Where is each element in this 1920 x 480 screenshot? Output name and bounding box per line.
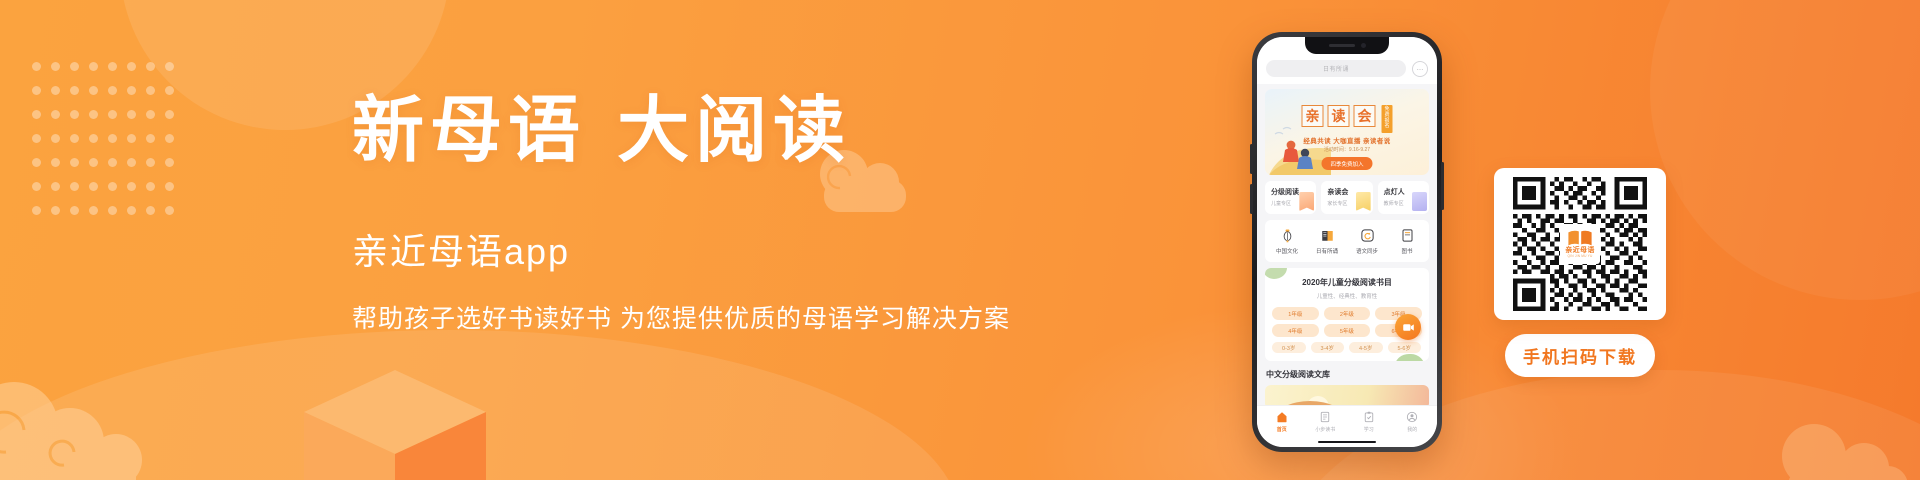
grade-chip[interactable]: 1年级 xyxy=(1272,307,1319,320)
qr-code-card[interactable]: 亲近母语 QIN JIN MU YU xyxy=(1494,168,1666,320)
tab-label: 小步读书 xyxy=(1315,426,1335,433)
banner-tagline: 帮助孩子选好书读好书 为您提供优质的母语学习解决方案 xyxy=(352,303,1032,336)
library-section-title: 中文分级阅读文库 xyxy=(1266,369,1428,380)
qr-download-block: 亲近母语 QIN JIN MU YU 手机扫码下载 xyxy=(1494,168,1666,377)
book-open-icon xyxy=(1320,228,1335,243)
banner-headline: 新母语 大阅读 xyxy=(352,88,1032,172)
list-icon xyxy=(1319,411,1331,423)
qr-logo-text-en: QIN JIN MU YU xyxy=(1567,255,1592,258)
play-video-button[interactable] xyxy=(1395,314,1421,340)
quick-link-label: 中国文化 xyxy=(1276,247,1298,255)
dot-grid-pattern xyxy=(32,62,184,230)
hero-char-1: 亲 xyxy=(1302,105,1324,127)
person-icon xyxy=(1412,192,1427,211)
age-chip[interactable]: 4-5岁 xyxy=(1349,342,1383,353)
user-icon xyxy=(1406,411,1418,423)
entry-card-graded-reading[interactable]: 分级阅读 儿童专区 xyxy=(1265,181,1316,214)
hero-char-2: 读 xyxy=(1328,105,1350,127)
tab-label: 学习 xyxy=(1364,426,1374,433)
age-chip[interactable]: 5-6岁 xyxy=(1388,342,1422,353)
message-icon[interactable]: … xyxy=(1412,61,1428,77)
booklist-title: 2020年儿童分级阅读书目 xyxy=(1272,277,1422,288)
home-icon xyxy=(1276,411,1288,423)
quick-link-label: 日有所诵 xyxy=(1316,247,1338,255)
hero-title: 亲 读 会 免费报名 xyxy=(1302,105,1393,133)
bookmark-icon xyxy=(1356,192,1371,211)
tab-label: 我的 xyxy=(1407,426,1417,433)
grade-chip[interactable]: 2年级 xyxy=(1324,307,1371,320)
tab-study[interactable]: 学习 xyxy=(1347,411,1391,433)
age-chip[interactable]: 0-3岁 xyxy=(1272,342,1306,353)
bottom-tab-bar: 首页 小步读书 学习 xyxy=(1257,405,1437,437)
leaf-decoration-icon xyxy=(1395,354,1425,361)
hero-ribbon-badge: 免费报名 xyxy=(1382,105,1393,133)
entry-card-teacher[interactable]: 点灯人 教师专区 xyxy=(1378,181,1429,214)
quick-link-row: 中国文化 日有所诵 xyxy=(1265,220,1429,262)
grade-chip[interactable]: 4年级 xyxy=(1272,324,1319,337)
quick-link-label: 语文同步 xyxy=(1356,247,1378,255)
qr-center-logo: 亲近母语 QIN JIN MU YU xyxy=(1560,224,1600,264)
sync-icon xyxy=(1360,228,1375,243)
age-chip-row: 0-3岁 3-4岁 4-5岁 5-6岁 xyxy=(1272,342,1422,353)
entry-card-parent-club[interactable]: 亲读会 家长专区 xyxy=(1321,181,1372,214)
auspicious-cloud-corner-icon xyxy=(1770,404,1920,480)
hero-subtitle: 经典共读 大咖直播 亲读者说 xyxy=(1303,135,1390,145)
tab-home[interactable]: 首页 xyxy=(1260,411,1304,433)
play-video-icon xyxy=(1402,321,1415,334)
home-indicator xyxy=(1257,437,1437,447)
search-input[interactable]: 日有所诵 xyxy=(1266,60,1406,77)
quick-link-books[interactable]: 图书 xyxy=(1387,228,1427,255)
tab-reading[interactable]: 小步读书 xyxy=(1304,411,1348,433)
age-chip[interactable]: 3-4岁 xyxy=(1311,342,1345,353)
auspicious-cloud-icon xyxy=(0,356,176,480)
library-card[interactable] xyxy=(1265,385,1429,405)
grade-chip[interactable]: 5年级 xyxy=(1324,324,1371,337)
open-book-logo-icon xyxy=(1567,229,1593,246)
quick-link-daily-recitation[interactable]: 日有所诵 xyxy=(1307,228,1347,255)
hero-banner-card[interactable]: 亲 读 会 免费报名 经典共读 大咖直播 亲读者说 活动时间：9.16-9.27… xyxy=(1265,89,1429,175)
phone-mockup: 日有所诵 … xyxy=(1252,32,1442,452)
hill-shape-left xyxy=(0,330,960,480)
app-content: 亲 读 会 免费报名 经典共读 大咖直播 亲读者说 活动时间：9.16-9.27… xyxy=(1257,84,1437,405)
hero-join-button[interactable]: 四季免费加入 xyxy=(1321,157,1372,170)
isometric-cube-icon xyxy=(300,360,490,480)
phone-side-button xyxy=(1441,162,1444,210)
qr-logo-text-zh: 亲近母语 xyxy=(1565,247,1595,254)
phone-screen: 日有所诵 … xyxy=(1257,37,1437,447)
hero-char-3: 会 xyxy=(1354,105,1376,127)
phone-notch xyxy=(1305,37,1389,54)
decorative-circle-right xyxy=(1650,0,1920,300)
dune-decoration-icon xyxy=(1275,401,1345,405)
banner-app-name: 亲近母语app xyxy=(352,230,1032,273)
booklist-card[interactable]: 2020年儿童分级阅读书目 儿童性、经典性、教育性 1年级 2年级 3年级 4年… xyxy=(1265,268,1429,361)
lantern-icon xyxy=(1280,228,1295,243)
hero-date: 活动时间：9.16-9.27 xyxy=(1324,146,1370,153)
tab-label: 首页 xyxy=(1277,426,1287,433)
scan-download-button[interactable]: 手机扫码下载 xyxy=(1505,334,1655,377)
speaker-grille xyxy=(1329,44,1355,47)
banner-copy: 新母语 大阅读 亲近母语app 帮助孩子选好书读好书 为您提供优质的母语学习解决… xyxy=(352,88,1032,335)
front-camera-icon xyxy=(1361,43,1366,48)
bookmark-icon xyxy=(1299,192,1314,211)
promo-banner: 新母语 大阅读 亲近母语app 帮助孩子选好书读好书 为您提供优质的母语学习解决… xyxy=(0,0,1920,480)
quick-link-chinese-culture[interactable]: 中国文化 xyxy=(1267,228,1307,255)
book-icon xyxy=(1400,228,1415,243)
tab-profile[interactable]: 我的 xyxy=(1391,411,1435,433)
entry-card-row: 分级阅读 儿童专区 亲读会 家长专区 点灯人 教师专区 xyxy=(1265,181,1429,214)
quick-link-label: 图书 xyxy=(1401,247,1412,255)
quick-link-language-sync[interactable]: 语文同步 xyxy=(1347,228,1387,255)
clipboard-icon xyxy=(1363,411,1375,423)
booklist-subtitle: 儿童性、经典性、教育性 xyxy=(1272,292,1422,300)
